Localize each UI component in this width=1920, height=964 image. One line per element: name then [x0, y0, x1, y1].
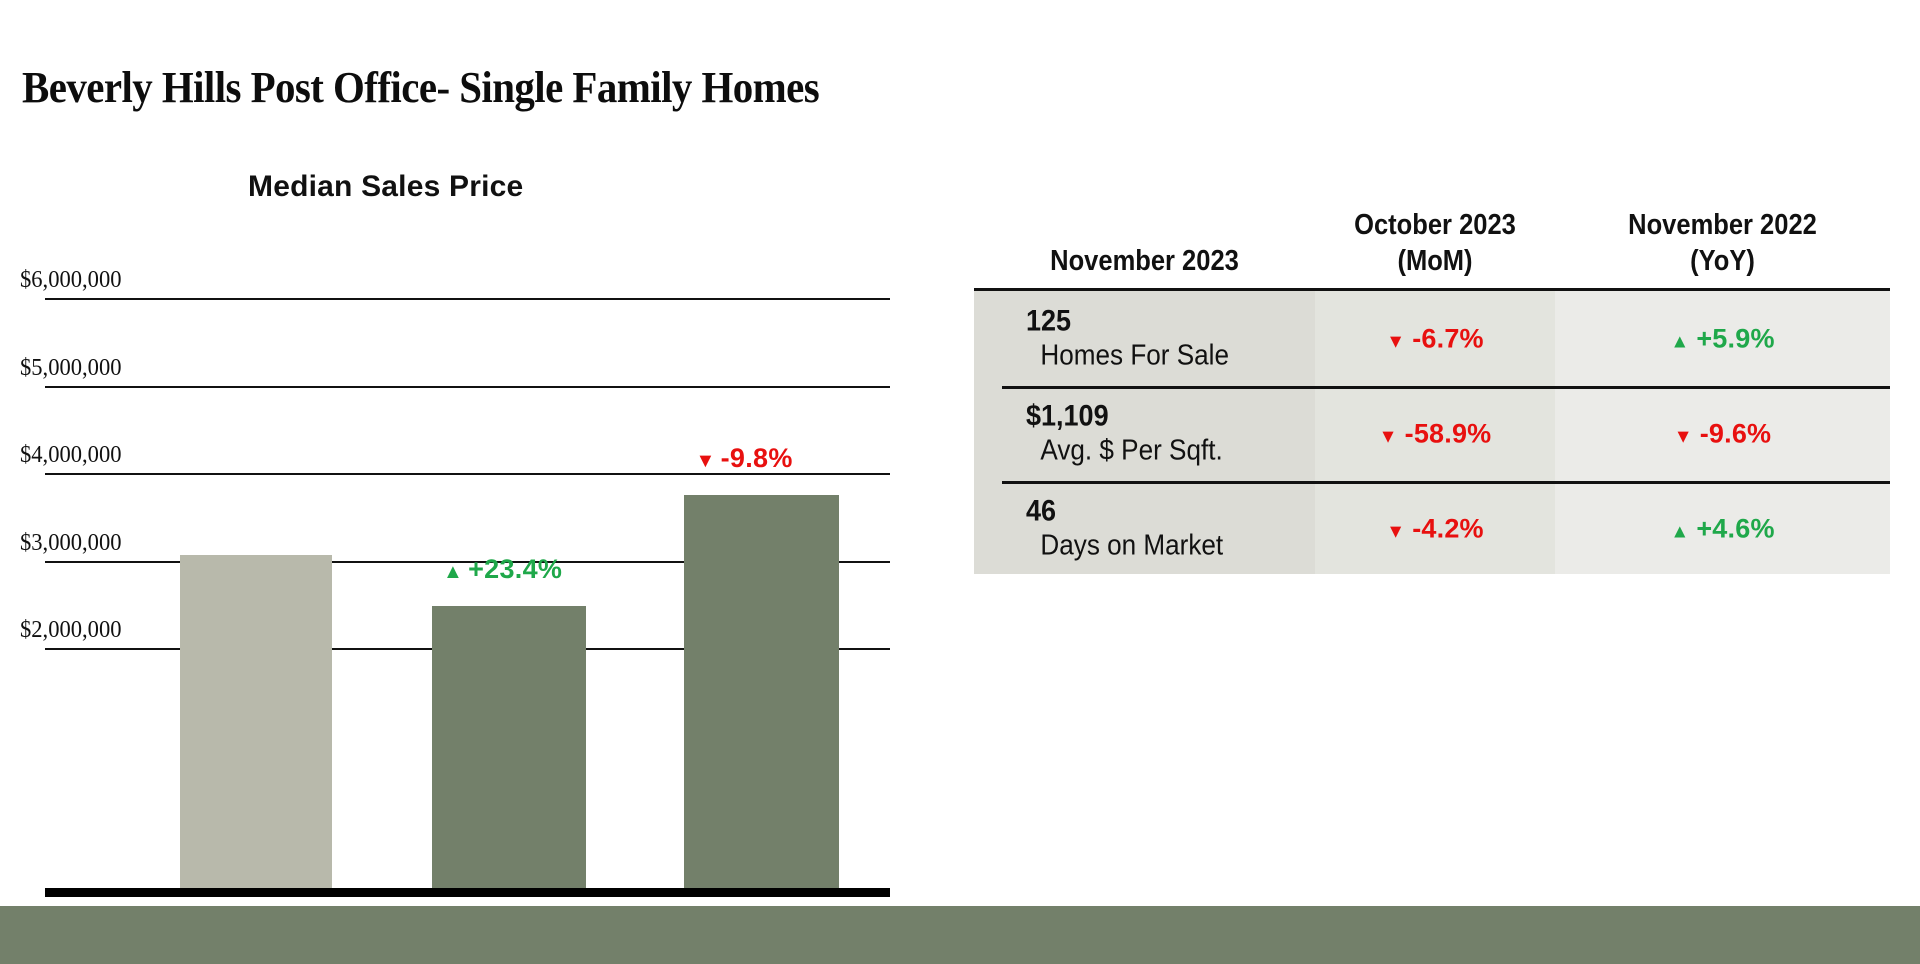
table-column-header-line2: (MoM) [1329, 244, 1540, 280]
up-triangle-icon: ▲ [1670, 521, 1689, 543]
table-cell-delta-yoy: ▲+5.9% [1555, 323, 1890, 354]
table-row: $1,109Avg. $ Per Sqft.▼-58.9%▼-9.6% [974, 386, 1890, 481]
page-title: Beverly Hills Post Office- Single Family… [22, 62, 819, 113]
table-column-header-line2: (YoY) [1575, 244, 1870, 280]
table-column-header: November 2022(YoY) [1575, 208, 1870, 280]
chart-y-tick-label: $5,000,000 [20, 355, 122, 382]
down-triangle-icon: ▼ [1379, 426, 1398, 448]
median-sales-price-chart: Median Sales Price $6,000,000$5,000,000$… [0, 170, 940, 790]
metric-value: $1,109 [1026, 399, 1286, 434]
table-row: 46Days on Market▼-4.2%▲+4.6% [974, 481, 1890, 576]
metric-value: 125 [1026, 304, 1286, 339]
table-column-header: October 2023(MoM) [1329, 208, 1540, 280]
chart-gridline [45, 561, 890, 563]
table-cell-delta-mom: ▼-4.2% [1315, 513, 1555, 544]
chart-gridline [45, 386, 890, 388]
table-cell-delta-yoy: ▲+4.6% [1555, 513, 1890, 544]
table-cell-delta-mom: ▼-6.7% [1315, 323, 1555, 354]
report-slide: Beverly Hills Post Office- Single Family… [0, 0, 1920, 964]
table-cell-metric: 125Homes For Sale [974, 304, 1315, 373]
delta-value: -9.6% [1700, 418, 1772, 448]
table-column-header: November 2023 [994, 244, 1294, 280]
table-column-header-line1: October 2023 [1329, 208, 1540, 244]
chart-y-tick-label: $4,000,000 [20, 442, 122, 469]
table-cell-delta-yoy: ▼-9.6% [1555, 418, 1890, 449]
table-row: 125Homes For Sale▼-6.7%▲+5.9% [974, 291, 1890, 386]
up-triangle-icon: ▲ [1670, 331, 1689, 353]
down-triangle-icon: ▼ [1386, 331, 1405, 353]
footer-bar [0, 906, 1920, 964]
chart-y-tick-label: $6,000,000 [20, 267, 122, 294]
metric-label: Avg. $ Per Sqft. [1026, 433, 1286, 468]
delta-value: +4.6% [1696, 513, 1774, 543]
chart-title: Median Sales Price [248, 170, 523, 204]
metric-label: Days on Market [1026, 528, 1286, 563]
table-column-header-line1: November 2023 [994, 244, 1294, 280]
chart-gridline [45, 473, 890, 475]
table-cell-metric: $1,109Avg. $ Per Sqft. [974, 399, 1315, 468]
table-body: 125Homes For Sale▼-6.7%▲+5.9%$1,109Avg. … [974, 288, 1890, 574]
delta-value: -6.7% [1412, 323, 1484, 353]
table-header-row: November 2023October 2023(MoM)November 2… [974, 178, 1890, 288]
chart-gridline [45, 298, 890, 300]
delta-value: -58.9% [1405, 418, 1492, 448]
delta-value: -4.2% [1412, 513, 1484, 543]
table-column-header-line1: November 2022 [1575, 208, 1870, 244]
metric-label: Homes For Sale [1026, 338, 1286, 373]
down-triangle-icon: ▼ [1674, 426, 1693, 448]
delta-value: +5.9% [1696, 323, 1774, 353]
chart-axis-baseline [45, 888, 890, 897]
chart-plot-area: $6,000,000$5,000,000$4,000,000$3,000,000… [0, 212, 940, 732]
chart-y-tick-label: $3,000,000 [20, 530, 122, 557]
metric-value: 46 [1026, 494, 1286, 529]
down-triangle-icon: ▼ [1386, 521, 1405, 543]
chart-gridline [45, 648, 890, 650]
table-cell-delta-mom: ▼-58.9% [1315, 418, 1555, 449]
table-row-divider [1002, 386, 1890, 389]
chart-y-tick-label: $2,000,000 [20, 617, 122, 644]
market-stats-table: November 2023October 2023(MoM)November 2… [974, 178, 1890, 574]
table-row-divider [1002, 481, 1890, 484]
table-cell-metric: 46Days on Market [974, 494, 1315, 563]
